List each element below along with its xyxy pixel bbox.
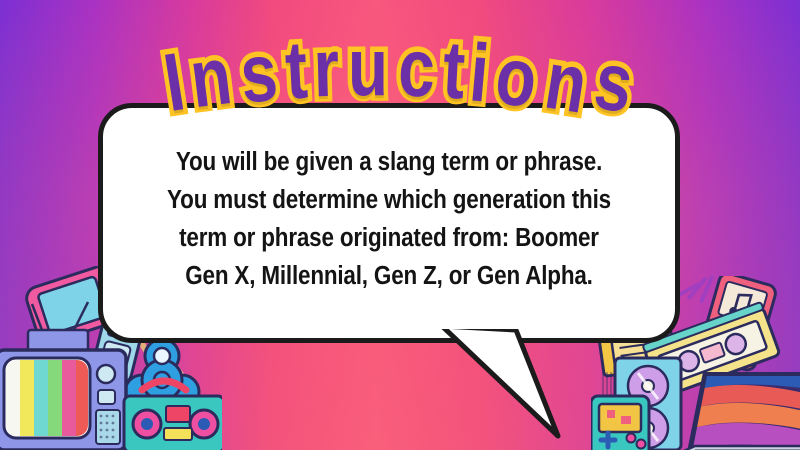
instructions-speech-bubble: You will be given a slang term or phrase… xyxy=(98,103,680,343)
instructions-text: You will be given a slang term or phrase… xyxy=(152,143,625,295)
title-letter: I xyxy=(160,43,190,123)
title-letter: c xyxy=(397,30,436,109)
title-letter: o xyxy=(492,37,541,119)
title-letter: i xyxy=(467,34,492,113)
instructions-line-4: Gen X, Millennial, Gen Z, or Gen Alpha. xyxy=(152,257,625,295)
title-letter: t xyxy=(441,32,467,111)
page-title: Instructions xyxy=(0,34,800,112)
instructions-line-3: term or phrase originated from: Boomer xyxy=(152,219,625,257)
instructions-line-1: You will be given a slang term or phrase… xyxy=(152,143,625,181)
title-letter: s xyxy=(238,34,281,115)
title-letter: n xyxy=(186,37,235,119)
title-letter: u xyxy=(348,29,388,107)
instructions-line-2: You must determine which generation this xyxy=(152,181,625,219)
title-letter: r xyxy=(313,30,341,109)
title-letter: t xyxy=(283,32,309,111)
slide-canvas: You will be given a slang term or phrase… xyxy=(0,0,800,450)
